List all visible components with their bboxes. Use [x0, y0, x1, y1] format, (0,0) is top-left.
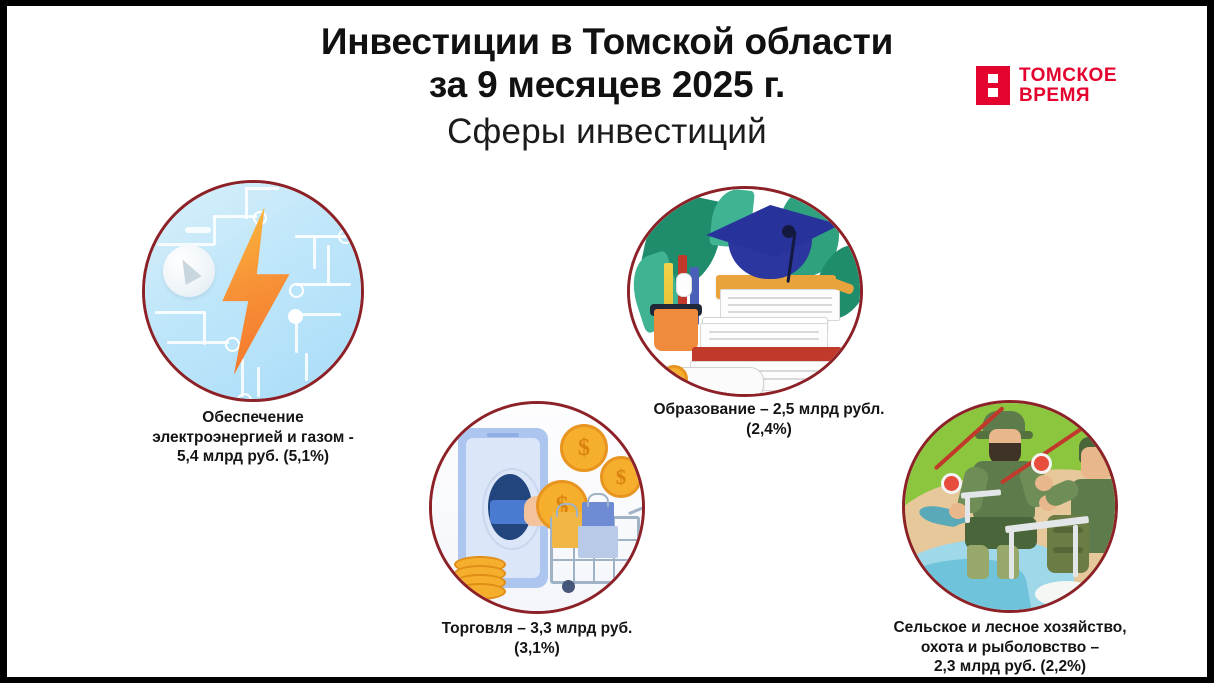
logo-mark-icon: [976, 66, 1010, 105]
cursor-pointer-icon: [163, 245, 215, 297]
shopping-cart-coins-icon: $ $ $: [429, 401, 645, 614]
logo-text: ТОМСКОЕ ВРЕМЯ: [1019, 66, 1117, 106]
stat-caption-energy: Обеспечение электроэнергией и газом - 5,…: [135, 408, 371, 467]
graduation-cap-books-icon: [627, 186, 863, 397]
stat-caption-agriculture: Сельское и лесное хозяйство, охота и рыб…: [879, 618, 1141, 677]
slide-letterbox: Инвестиции в Томской области за 9 месяце…: [0, 0, 1214, 683]
stat-caption-trade: Торговля – 3,3 млрд руб. (3,1%): [397, 619, 677, 658]
infographic-canvas: Инвестиции в Томской области за 9 месяце…: [7, 6, 1207, 677]
stat-item-agriculture: Сельское и лесное хозяйство, охота и рыб…: [879, 400, 1141, 677]
stat-item-energy: Обеспечение электроэнергией и газом - 5,…: [135, 180, 371, 467]
fishermen-icon: [902, 400, 1118, 613]
lightning-bolt-circuit-icon: [142, 180, 364, 402]
page-subtitle: Сферы инвестиций: [7, 112, 1207, 152]
stat-item-trade: $ $ $: [397, 401, 677, 658]
brand-logo: ТОМСКОЕ ВРЕМЯ: [976, 66, 1117, 106]
